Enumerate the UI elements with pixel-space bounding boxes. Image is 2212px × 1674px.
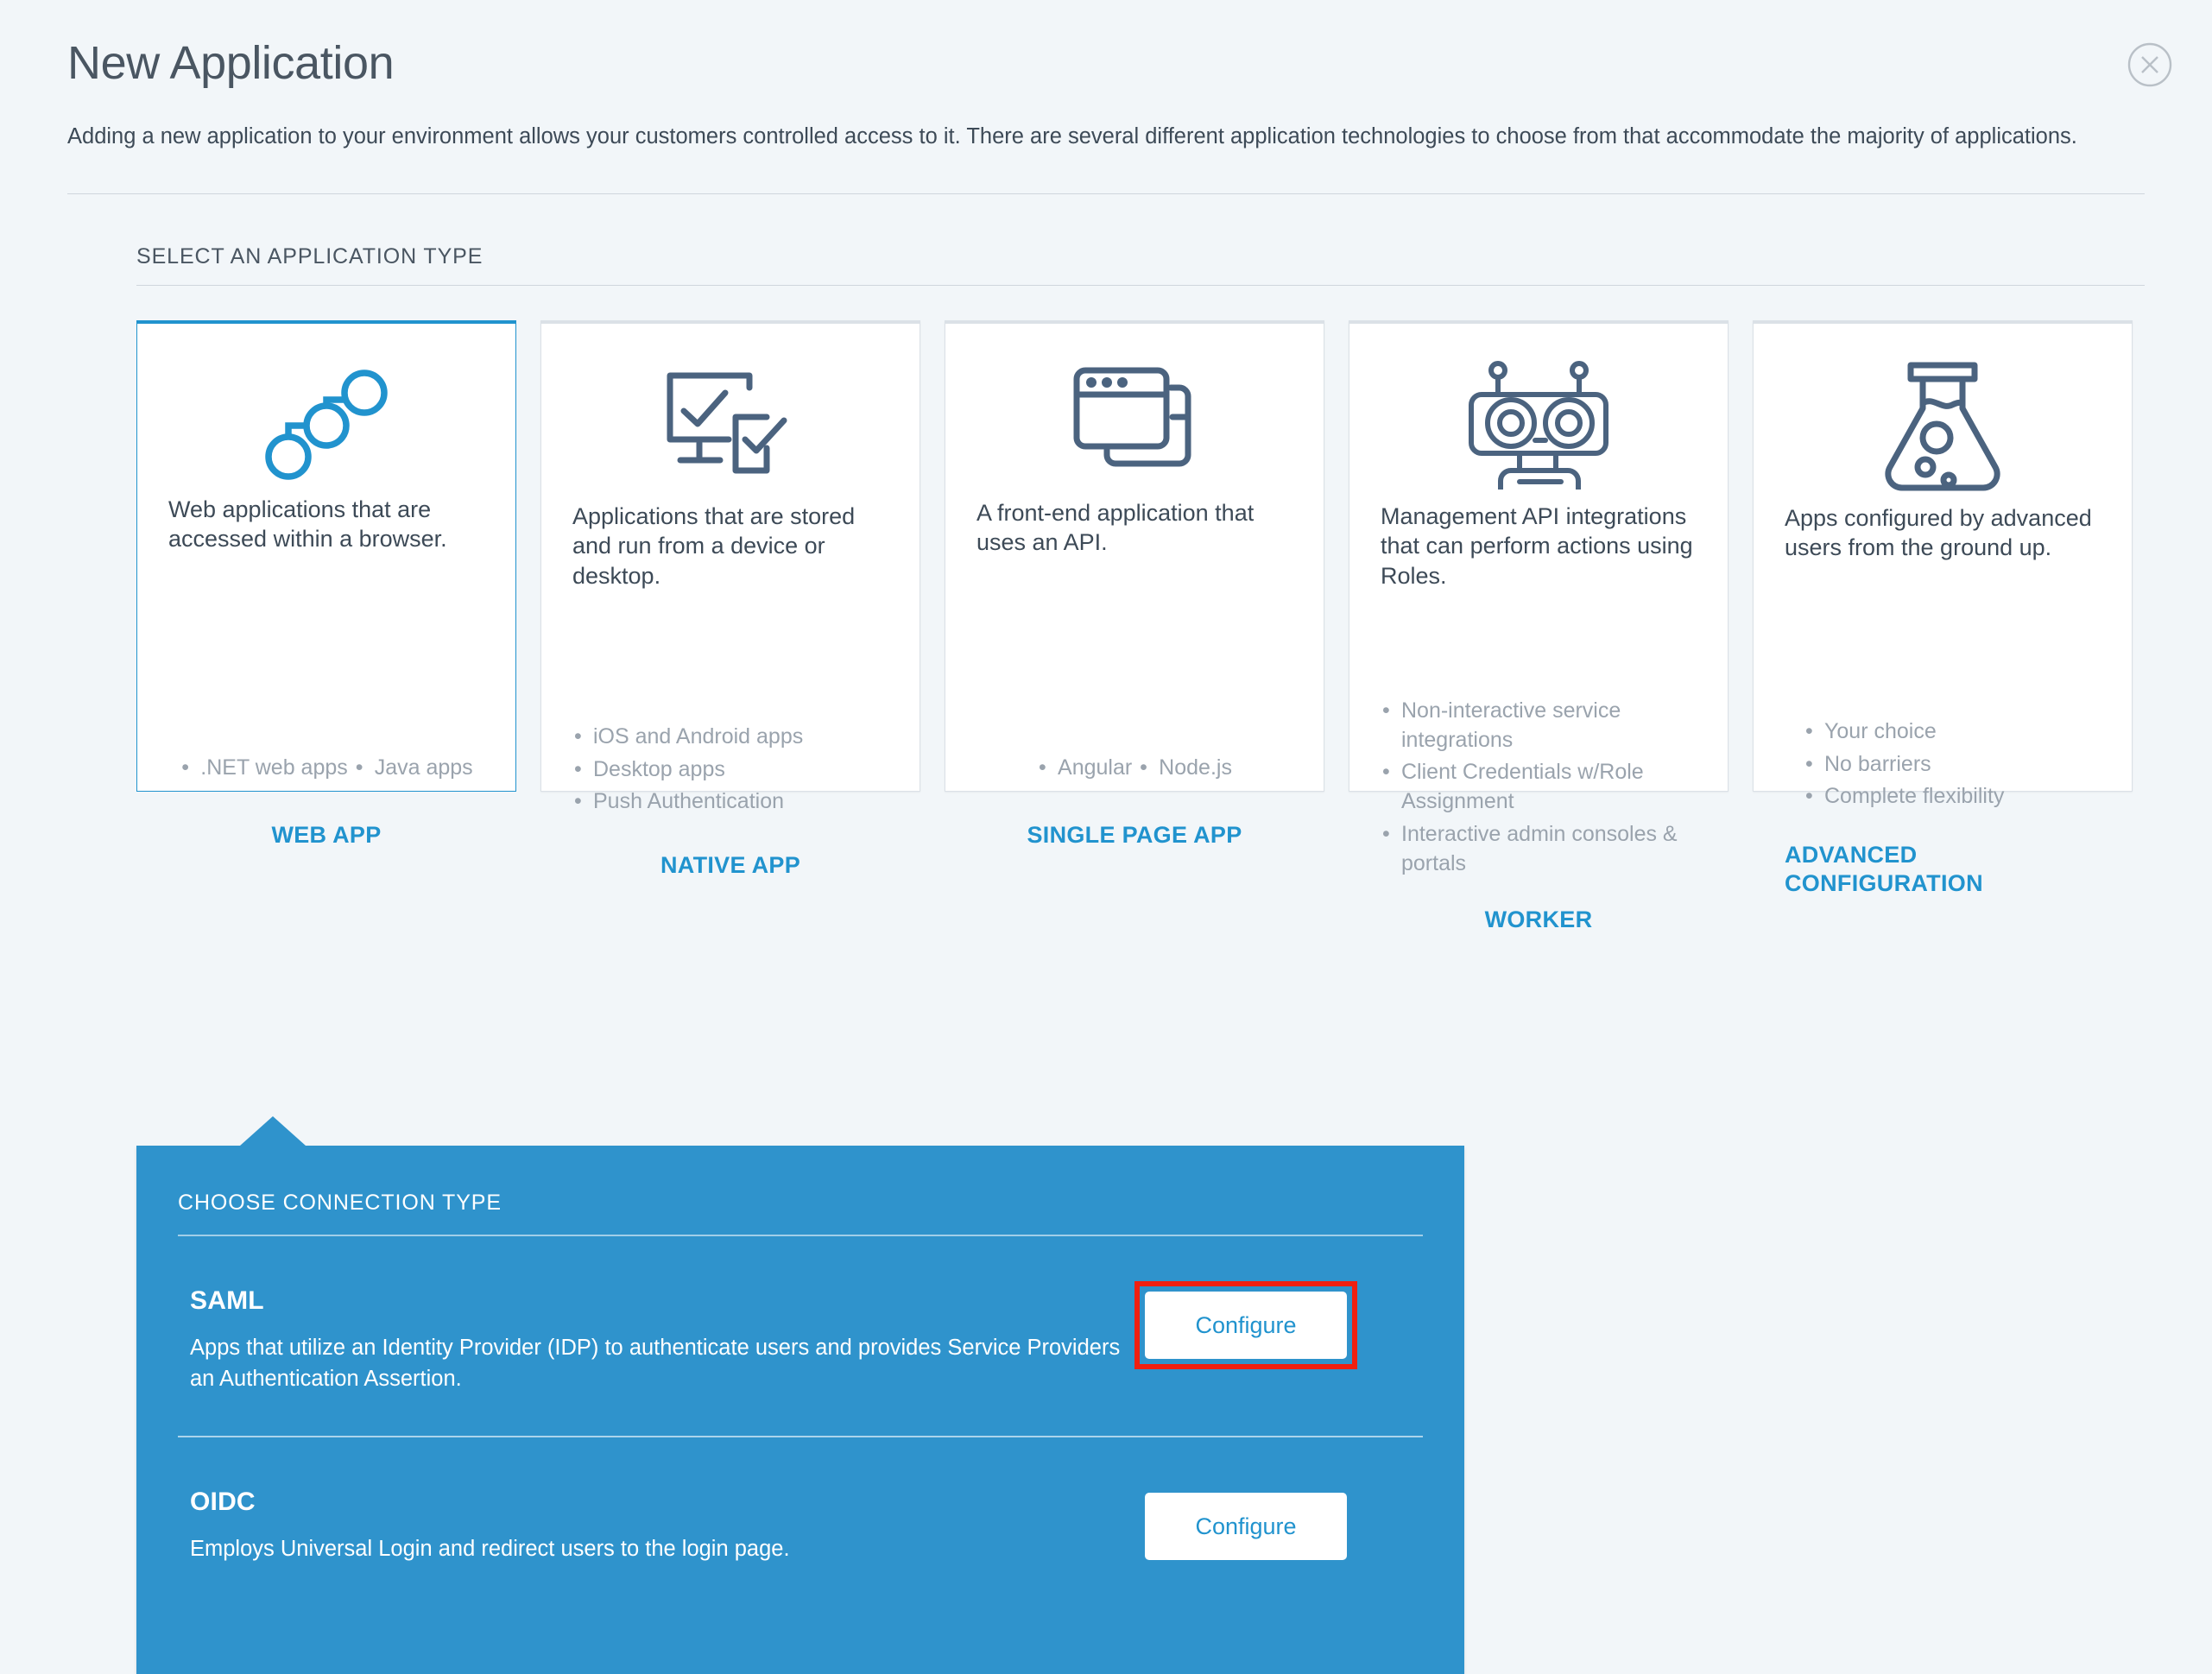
list-item: Interactive admin consoles & portals (1381, 820, 1697, 879)
connection-description: Apps that utilize an Identity Provider (… (190, 1333, 1124, 1394)
page-subtitle: Adding a new application to your environ… (67, 121, 2145, 152)
application-type-card-worker[interactable]: Management API integrations that can per… (1349, 320, 1729, 792)
connection-row-saml: SAML Apps that utilize an Identity Provi… (136, 1236, 1464, 1436)
configure-oidc-button[interactable]: Configure (1145, 1493, 1347, 1560)
card-footer-label[interactable]: ADVANCED CONFIGURATION (1785, 841, 2101, 897)
card-description: Applications that are stored and run fro… (572, 502, 888, 631)
list-item: Java apps (354, 754, 473, 783)
application-type-card-single-page-app[interactable]: A front-end application that uses an API… (945, 320, 1324, 792)
flask-icon (1785, 360, 2101, 491)
desktop-and-mobile-check-icon (572, 360, 888, 490)
list-item: Client Credentials w/Role Assignment (1381, 758, 1697, 817)
card-footer-label[interactable]: SINGLE PAGE APP (976, 821, 1292, 849)
card-description: Web applications that are accessed withi… (168, 495, 484, 624)
list-item: Complete flexibility (1804, 782, 2101, 812)
card-footer-label[interactable]: WEB APP (168, 821, 484, 849)
card-description: Apps configured by advanced users from t… (1785, 503, 2101, 633)
list-item: iOS and Android apps (572, 723, 888, 752)
list-item: No barriers (1804, 750, 2101, 780)
connection-description: Employs Universal Login and redirect use… (190, 1534, 1124, 1565)
card-bullet-list: .NET web apps Java apps (168, 754, 484, 786)
application-type-card-advanced-configuration[interactable]: Apps configured by advanced users from t… (1753, 320, 2133, 792)
page-title: New Application (67, 39, 2145, 88)
connection-name: OIDC (190, 1488, 1124, 1517)
card-footer-label[interactable]: WORKER (1381, 906, 1697, 933)
section-divider (136, 285, 2145, 286)
card-bullet-list: Non-interactive service integrations Cli… (1381, 697, 1697, 882)
list-item: Your choice (1804, 717, 2101, 747)
panel-pointer-arrow (240, 1116, 306, 1146)
connection-text-block: OIDC Employs Universal Login and redirec… (190, 1488, 1124, 1565)
dialog-header: New Application Adding a new application… (0, 0, 2212, 152)
connection-name: SAML (190, 1286, 1124, 1316)
section-label: SELECT AN APPLICATION TYPE (136, 244, 2145, 269)
network-nodes-icon (168, 360, 484, 483)
application-type-card-web-app[interactable]: Web applications that are accessed withi… (136, 320, 516, 792)
close-icon[interactable] (2124, 39, 2176, 91)
browser-windows-icon (976, 360, 1292, 486)
list-item: Non-interactive service integrations (1381, 697, 1697, 755)
card-description: Management API integrations that can per… (1381, 502, 1697, 648)
select-application-type-section: SELECT AN APPLICATION TYPE Web applicati… (0, 244, 2212, 792)
list-item: .NET web apps (180, 754, 347, 783)
panel-label: CHOOSE CONNECTION TYPE (136, 1146, 1464, 1216)
card-bullet-list: iOS and Android apps Desktop apps Push A… (572, 723, 888, 820)
list-item: Desktop apps (572, 755, 888, 785)
application-type-grid: Web applications that are accessed withi… (136, 320, 2145, 792)
configure-saml-button[interactable]: Configure (1145, 1292, 1347, 1359)
configure-button-wrapper: Configure (1145, 1493, 1347, 1560)
card-bullet-list: Your choice No barriers Complete flexibi… (1785, 717, 2101, 815)
list-item: Push Authentication (572, 787, 888, 817)
connection-row-oidc: OIDC Employs Universal Login and redirec… (136, 1437, 1464, 1607)
list-item: Node.js (1138, 754, 1232, 783)
configure-button-wrapper: Configure (1145, 1292, 1347, 1359)
choose-connection-type-panel: CHOOSE CONNECTION TYPE SAML Apps that ut… (136, 1146, 1464, 1674)
application-type-card-native-app[interactable]: Applications that are stored and run fro… (540, 320, 920, 792)
card-footer-label[interactable]: NATIVE APP (572, 851, 888, 879)
list-item: Angular (1037, 754, 1132, 783)
robot-icon (1381, 360, 1697, 490)
card-bullet-list: Angular Node.js (976, 754, 1292, 786)
header-divider (67, 193, 2145, 194)
card-description: A front-end application that uses an API… (976, 498, 1292, 628)
connection-text-block: SAML Apps that utilize an Identity Provi… (190, 1286, 1124, 1394)
